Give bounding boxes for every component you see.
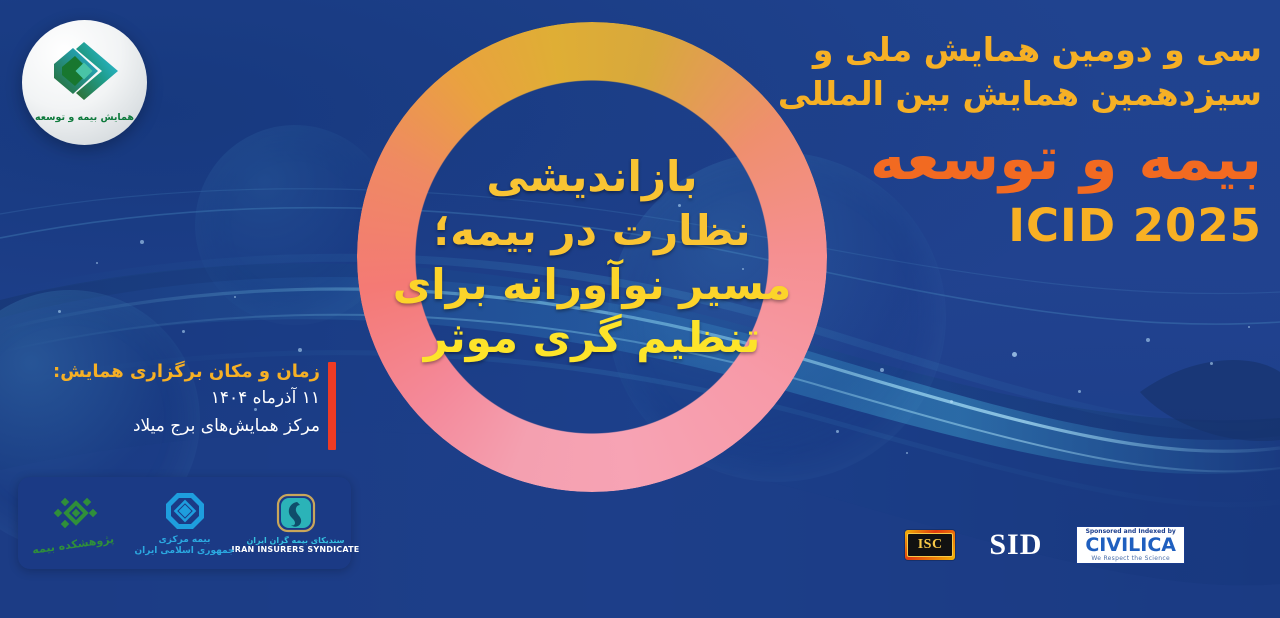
sparkle-dot: [1248, 326, 1250, 328]
sponsor-name-fa-line2: جمهوری اسلامی ایران: [134, 546, 234, 556]
sparkle-dot: [234, 296, 236, 298]
conference-banner: همایش بیمه و توسعه سی و دومین همایش ملی …: [0, 0, 1280, 618]
isc-label: ISC: [918, 537, 943, 553]
sparkle-dot: [880, 368, 884, 372]
theme-line-3: مسیر نوآورانه برای: [392, 258, 792, 312]
event-date: ۱۱ آذرماه ۱۴۰۴: [86, 385, 320, 413]
sponsor-caption: سندیکای بیمه گران ایران IRAN INSURERS SY…: [232, 537, 360, 555]
brand-title-latin: ICID 2025: [792, 203, 1262, 248]
sparkle-dot: [950, 400, 953, 403]
event-time-place-block: زمان و مکان برگزاری همایش: ۱۱ آذرماه ۱۴۰…: [86, 358, 336, 440]
conference-logo-badge: همایش بیمه و توسعه: [22, 20, 147, 145]
isc-logo[interactable]: ISC: [905, 530, 955, 560]
indexing-logos: ISC SID Sponsored and Indexed by CIVILIC…: [905, 524, 1185, 566]
conference-logo-caption: همایش بیمه و توسعه: [35, 112, 134, 123]
sparkle-dot: [1210, 362, 1213, 365]
sponsor-caption: بیمه مرکزی جمهوری اسلامی ایران: [134, 535, 234, 555]
theme-line-1: بازاندیشی: [392, 150, 792, 204]
sparkle-dot: [1012, 352, 1017, 357]
theme-line-4: تنظیم گری موثر: [392, 311, 792, 365]
sparkle-dot: [906, 452, 908, 454]
sparkle-dot: [96, 262, 98, 264]
sid-logo[interactable]: SID: [989, 530, 1042, 560]
isc-logo-inner: ISC: [907, 533, 953, 557]
brand-title-fa: بیمه و توسعه: [792, 128, 1262, 191]
sponsor-logo-mark: [276, 492, 316, 534]
research-center-icon: [50, 494, 98, 536]
sparkle-dot: [836, 430, 839, 433]
event-time-place-title: زمان و مکان برگزاری همایش:: [86, 358, 320, 385]
civilica-name: CIVILICA: [1085, 536, 1176, 555]
headline-line-2: سیزدهمین همایش بین المللی: [792, 72, 1262, 116]
syndicate-icon: [276, 493, 316, 533]
theme-line-2: نظارت در بیمه؛: [392, 204, 792, 258]
accent-bar: [328, 362, 336, 450]
conference-theme-block: بازاندیشی نظارت در بیمه؛ مسیر نوآورانه ب…: [392, 150, 792, 365]
conference-logo-icon: [48, 40, 122, 102]
sponsor-caption: پژوهشکده بیمه: [32, 539, 114, 551]
sponsor-name-fa: پژوهشکده بیمه: [32, 534, 115, 558]
civilica-tagline-bottom: We Respect the Science: [1091, 555, 1170, 562]
sponsors-panel: سندیکای بیمه گران ایران IRAN INSURERS SY…: [18, 477, 351, 569]
civilica-logo[interactable]: Sponsored and Indexed by CIVILICA We Res…: [1076, 526, 1185, 564]
conference-logo-caption-wrap: همایش بیمه و توسعه: [35, 105, 134, 124]
sponsor-insurance-research-center[interactable]: پژوهشکده بیمه: [21, 494, 127, 551]
sponsor-name-en: IRAN INSURERS SYNDICATE: [232, 546, 360, 555]
headline-line-1: سی و دومین همایش ملی و: [792, 28, 1262, 72]
sponsor-name-fa-line1: بیمه مرکزی: [134, 535, 234, 545]
event-place: مرکز همایش‌های برج میلاد: [86, 413, 320, 441]
sponsor-iran-insurers-syndicate[interactable]: سندیکای بیمه گران ایران IRAN INSURERS SY…: [243, 492, 349, 555]
logo-diamond-icon: [48, 40, 122, 102]
sponsor-central-insurance-iran[interactable]: بیمه مرکزی جمهوری اسلامی ایران: [132, 490, 238, 555]
sponsor-logo-mark: [50, 494, 98, 536]
sparkle-dot: [58, 310, 61, 313]
sparkle-dot: [182, 330, 185, 333]
sparkle-dot: [298, 348, 302, 352]
sponsor-logo-mark: [164, 490, 206, 532]
sparkle-dot: [1146, 338, 1150, 342]
central-insurance-icon: [164, 491, 206, 531]
headline-block: سی و دومین همایش ملی و سیزدهمین همایش بی…: [792, 28, 1262, 248]
sparkle-dot: [1078, 390, 1081, 393]
sparkle-dot: [140, 240, 144, 244]
